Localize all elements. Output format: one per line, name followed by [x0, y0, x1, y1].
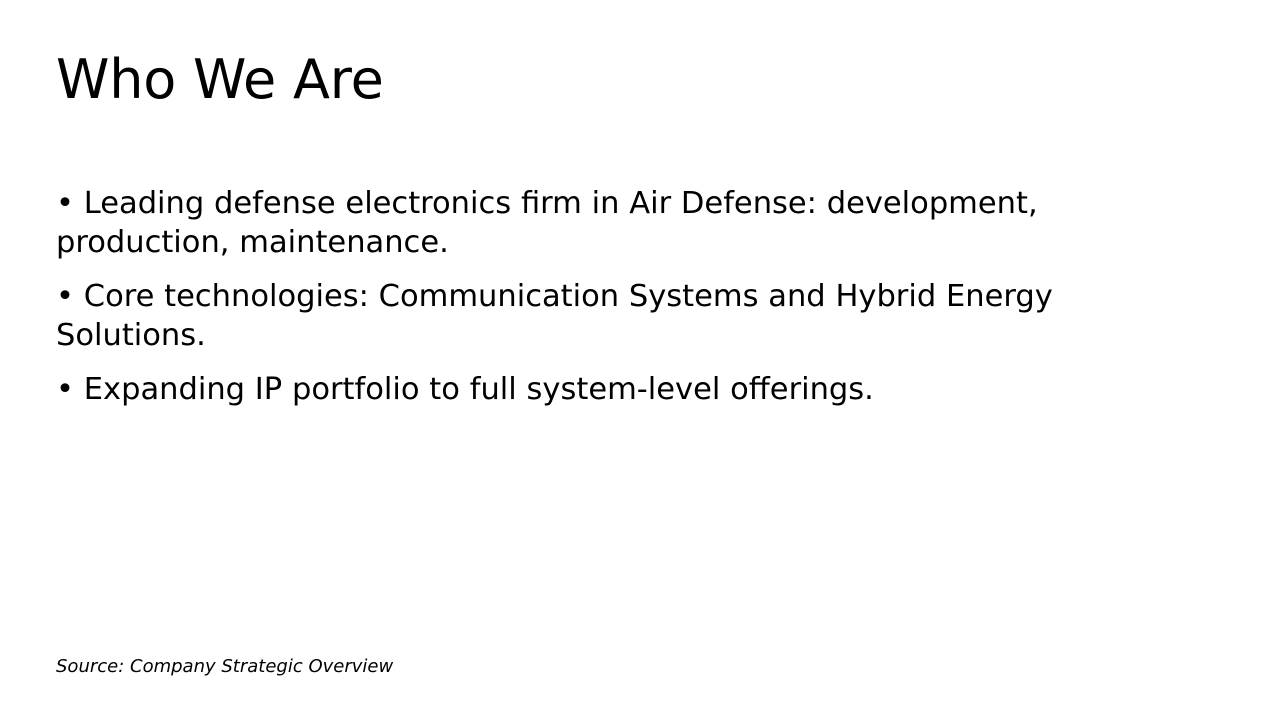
bullet-list: • Leading defense electronics firm in Ai… — [56, 184, 1204, 409]
list-item: • Leading defense electronics firm in Ai… — [56, 184, 1204, 262]
source-note: Source: Company Strategic Overview — [56, 655, 393, 679]
slide-canvas: Who We Are • Leading defense electronics… — [0, 0, 1280, 720]
list-item: • Core technologies: Communication Syste… — [56, 277, 1204, 355]
page-title: Who We Are — [56, 48, 1216, 112]
list-item: • Expanding IP portfolio to full system-… — [56, 370, 1204, 409]
